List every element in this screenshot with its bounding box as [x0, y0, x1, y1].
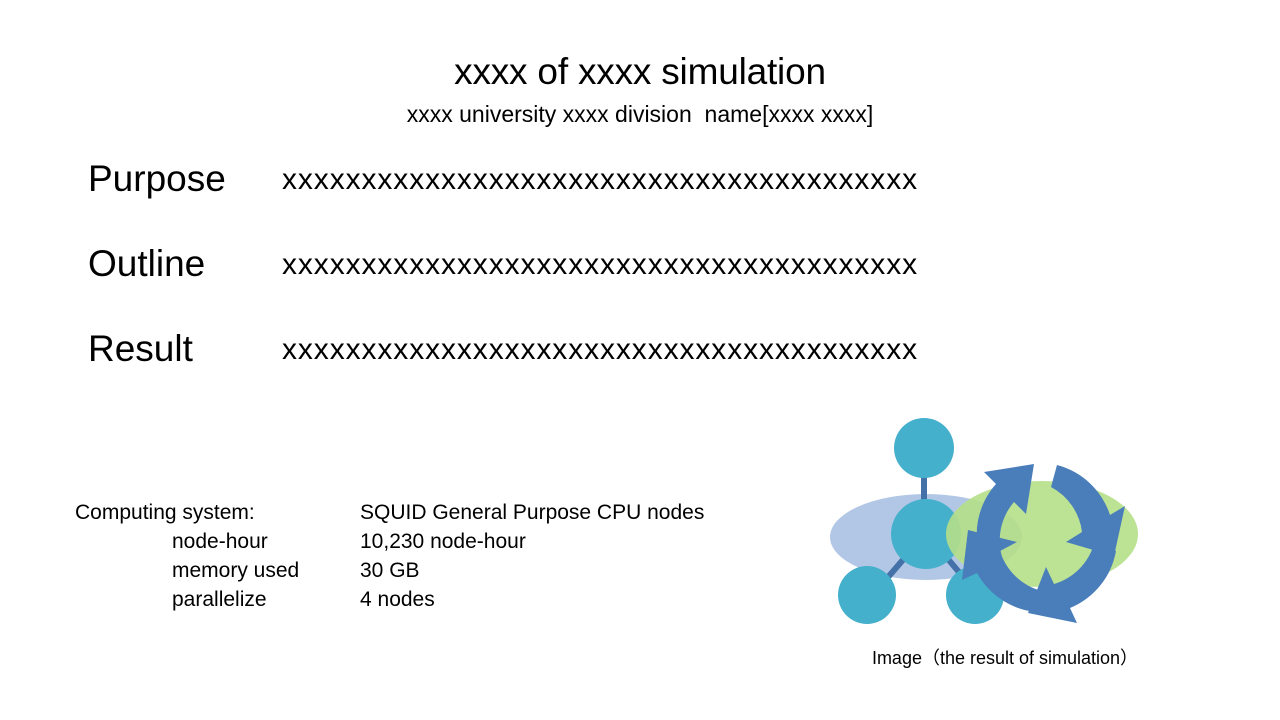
content-row-result: Result xxxxxxxxxxxxxxxxxxxxxxxxxxxxxxxxx… [0, 325, 1280, 377]
spec-row-parallelize: parallelize 4 nodes [75, 585, 775, 614]
spec-value-memory-used: 30 GB [360, 556, 420, 585]
node-bottom-left-icon [838, 566, 896, 624]
simulation-illustration [820, 412, 1190, 642]
spec-row-node-hour: node-hour 10,230 node-hour [75, 527, 775, 556]
spec-value-node-hour: 10,230 node-hour [360, 527, 526, 556]
spec-row-memory-used: memory used 30 GB [75, 556, 775, 585]
row-label-outline: Outline [88, 240, 205, 288]
spec-key-node-hour: node-hour [172, 527, 268, 556]
spec-value-parallelize: 4 nodes [360, 585, 435, 614]
figure-caption: Image（the result of simulation） [820, 645, 1190, 671]
row-value-purpose: xxxxxxxxxxxxxxxxxxxxxxxxxxxxxxxxxxxxxxxx [282, 157, 918, 203]
row-value-result: xxxxxxxxxxxxxxxxxxxxxxxxxxxxxxxxxxxxxxxx [282, 327, 918, 373]
row-label-result: Result [88, 325, 193, 373]
spec-value-computing-system: SQUID General Purpose CPU nodes [360, 498, 704, 527]
slide-canvas: xxxx of xxxx simulation xxxx university … [0, 0, 1280, 720]
spec-row-computing-system: Computing system: SQUID General Purpose … [75, 498, 775, 527]
content-row-purpose: Purpose xxxxxxxxxxxxxxxxxxxxxxxxxxxxxxxx… [0, 155, 1280, 207]
content-row-outline: Outline xxxxxxxxxxxxxxxxxxxxxxxxxxxxxxxx… [0, 240, 1280, 292]
page-subtitle: xxxx university xxxx division name[xxxx … [0, 99, 1280, 129]
computing-specs-table: Computing system: SQUID General Purpose … [75, 498, 775, 614]
spec-key-parallelize: parallelize [172, 585, 267, 614]
node-top-icon [894, 418, 954, 478]
row-value-outline: xxxxxxxxxxxxxxxxxxxxxxxxxxxxxxxxxxxxxxxx [282, 242, 918, 288]
page-title: xxxx of xxxx simulation [0, 50, 1280, 94]
row-label-purpose: Purpose [88, 155, 226, 203]
spec-key-memory-used: memory used [172, 556, 299, 585]
spec-key-computing-system: Computing system: [75, 498, 255, 527]
